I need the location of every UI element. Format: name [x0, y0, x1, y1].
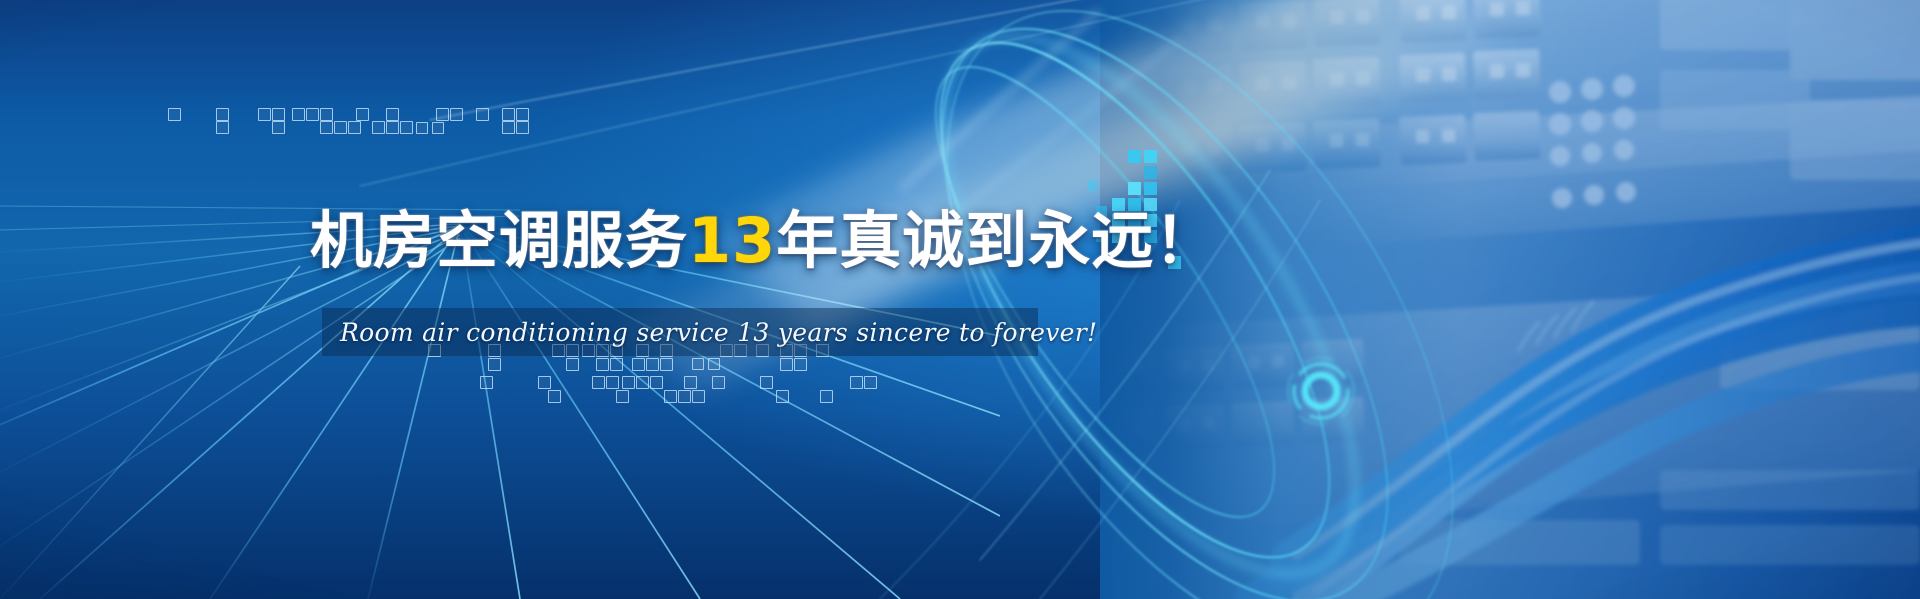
- server-switch-ethernet-cables-photo: [1100, 0, 1920, 599]
- hud-ring-icon: [1282, 352, 1360, 430]
- page-title: 机房空调服务13年真诚到永远！: [310, 210, 1217, 272]
- headline-part2: 年真诚到永远！: [776, 204, 1217, 277]
- square-dot-field-top: [160, 100, 560, 134]
- headline-part1: 机房空调服务: [310, 204, 688, 277]
- hero-banner: 机房空调服务13年真诚到永远！ Room air conditioning se…: [0, 0, 1920, 599]
- photo-left-fade: [1100, 0, 1920, 599]
- subtitle: Room air conditioning service 13 years s…: [340, 308, 1040, 356]
- headline-years-number: 13: [688, 204, 776, 277]
